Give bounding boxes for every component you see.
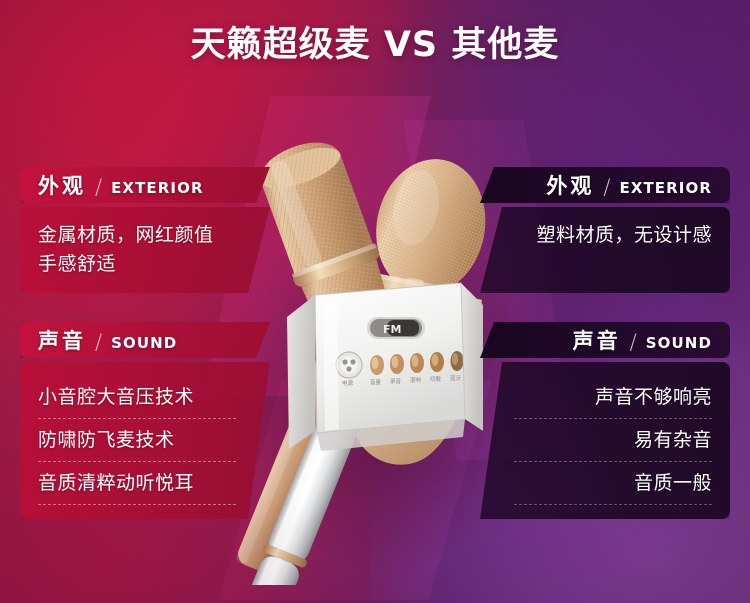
list-item: 音质一般 xyxy=(514,461,712,504)
left-exterior-header-cn: 外观 xyxy=(38,170,86,200)
right-exterior-body: 塑料材质，无设计感 xyxy=(480,207,730,293)
right-exterior-header-en: EXTERIOR xyxy=(619,179,712,197)
left-exterior-line: 手感舒适 xyxy=(38,250,236,279)
header-slash-divider: / xyxy=(630,330,637,354)
right-exterior-line: 塑料材质，无设计感 xyxy=(514,221,712,250)
right-sound-header-cn: 声音 xyxy=(573,325,621,355)
list-item: 音质清粹动听悦耳 xyxy=(38,461,236,504)
right-sound-body: 声音不够响亮 易有杂音 音质一般 xyxy=(480,362,730,519)
header-slash-divider: / xyxy=(95,330,102,354)
right-exterior-header-cn: 外观 xyxy=(546,170,594,200)
list-item: 易有杂音 xyxy=(514,418,712,461)
right-exterior-block: 外观 / EXTERIOR 塑料材质，无设计感 xyxy=(480,167,730,293)
list-item: 防啸防飞麦技术 xyxy=(38,418,236,461)
list-item: 小音腔大音压技术 xyxy=(38,376,236,418)
header-slash-divider: / xyxy=(603,175,610,199)
left-sound-block: 声音 / SOUND 小音腔大音压技术 防啸防飞麦技术 音质清粹动听悦耳 xyxy=(20,322,270,519)
page-title: 天籁超级麦 VS 其他麦 xyxy=(0,16,750,67)
left-exterior-body: 金属材质，网红颜值 手感舒适 xyxy=(20,207,270,293)
left-exterior-block: 外观 / EXTERIOR 金属材质，网红颜值 手感舒适 xyxy=(20,167,270,293)
left-sound-body: 小音腔大音压技术 防啸防飞麦技术 音质清粹动听悦耳 xyxy=(20,362,270,519)
right-exterior-spacer xyxy=(514,250,712,279)
list-item: 声音不够响亮 xyxy=(514,376,712,418)
right-sound-header-en: SOUND xyxy=(646,334,712,352)
right-sound-block: 声音 / SOUND 声音不够响亮 易有杂音 音质一般 xyxy=(480,322,730,519)
right-sound-list: 声音不够响亮 易有杂音 音质一般 xyxy=(514,376,712,505)
right-sound-header: 声音 / SOUND xyxy=(480,322,730,358)
infographic-canvas: FM 电源 音量 xyxy=(0,0,750,603)
header-slash-divider: / xyxy=(95,175,102,199)
left-sound-list: 小音腔大音压技术 防啸防飞麦技术 音质清粹动听悦耳 xyxy=(38,376,236,505)
left-sound-header: 声音 / SOUND xyxy=(20,322,270,358)
left-sound-header-cn: 声音 xyxy=(38,325,86,355)
left-exterior-header: 外观 / EXTERIOR xyxy=(20,167,270,203)
left-exterior-line: 金属材质，网红颜值 xyxy=(38,221,236,250)
right-exterior-header: 外观 / EXTERIOR xyxy=(480,167,730,203)
left-exterior-header-en: EXTERIOR xyxy=(111,179,204,197)
left-sound-header-en: SOUND xyxy=(111,334,177,352)
